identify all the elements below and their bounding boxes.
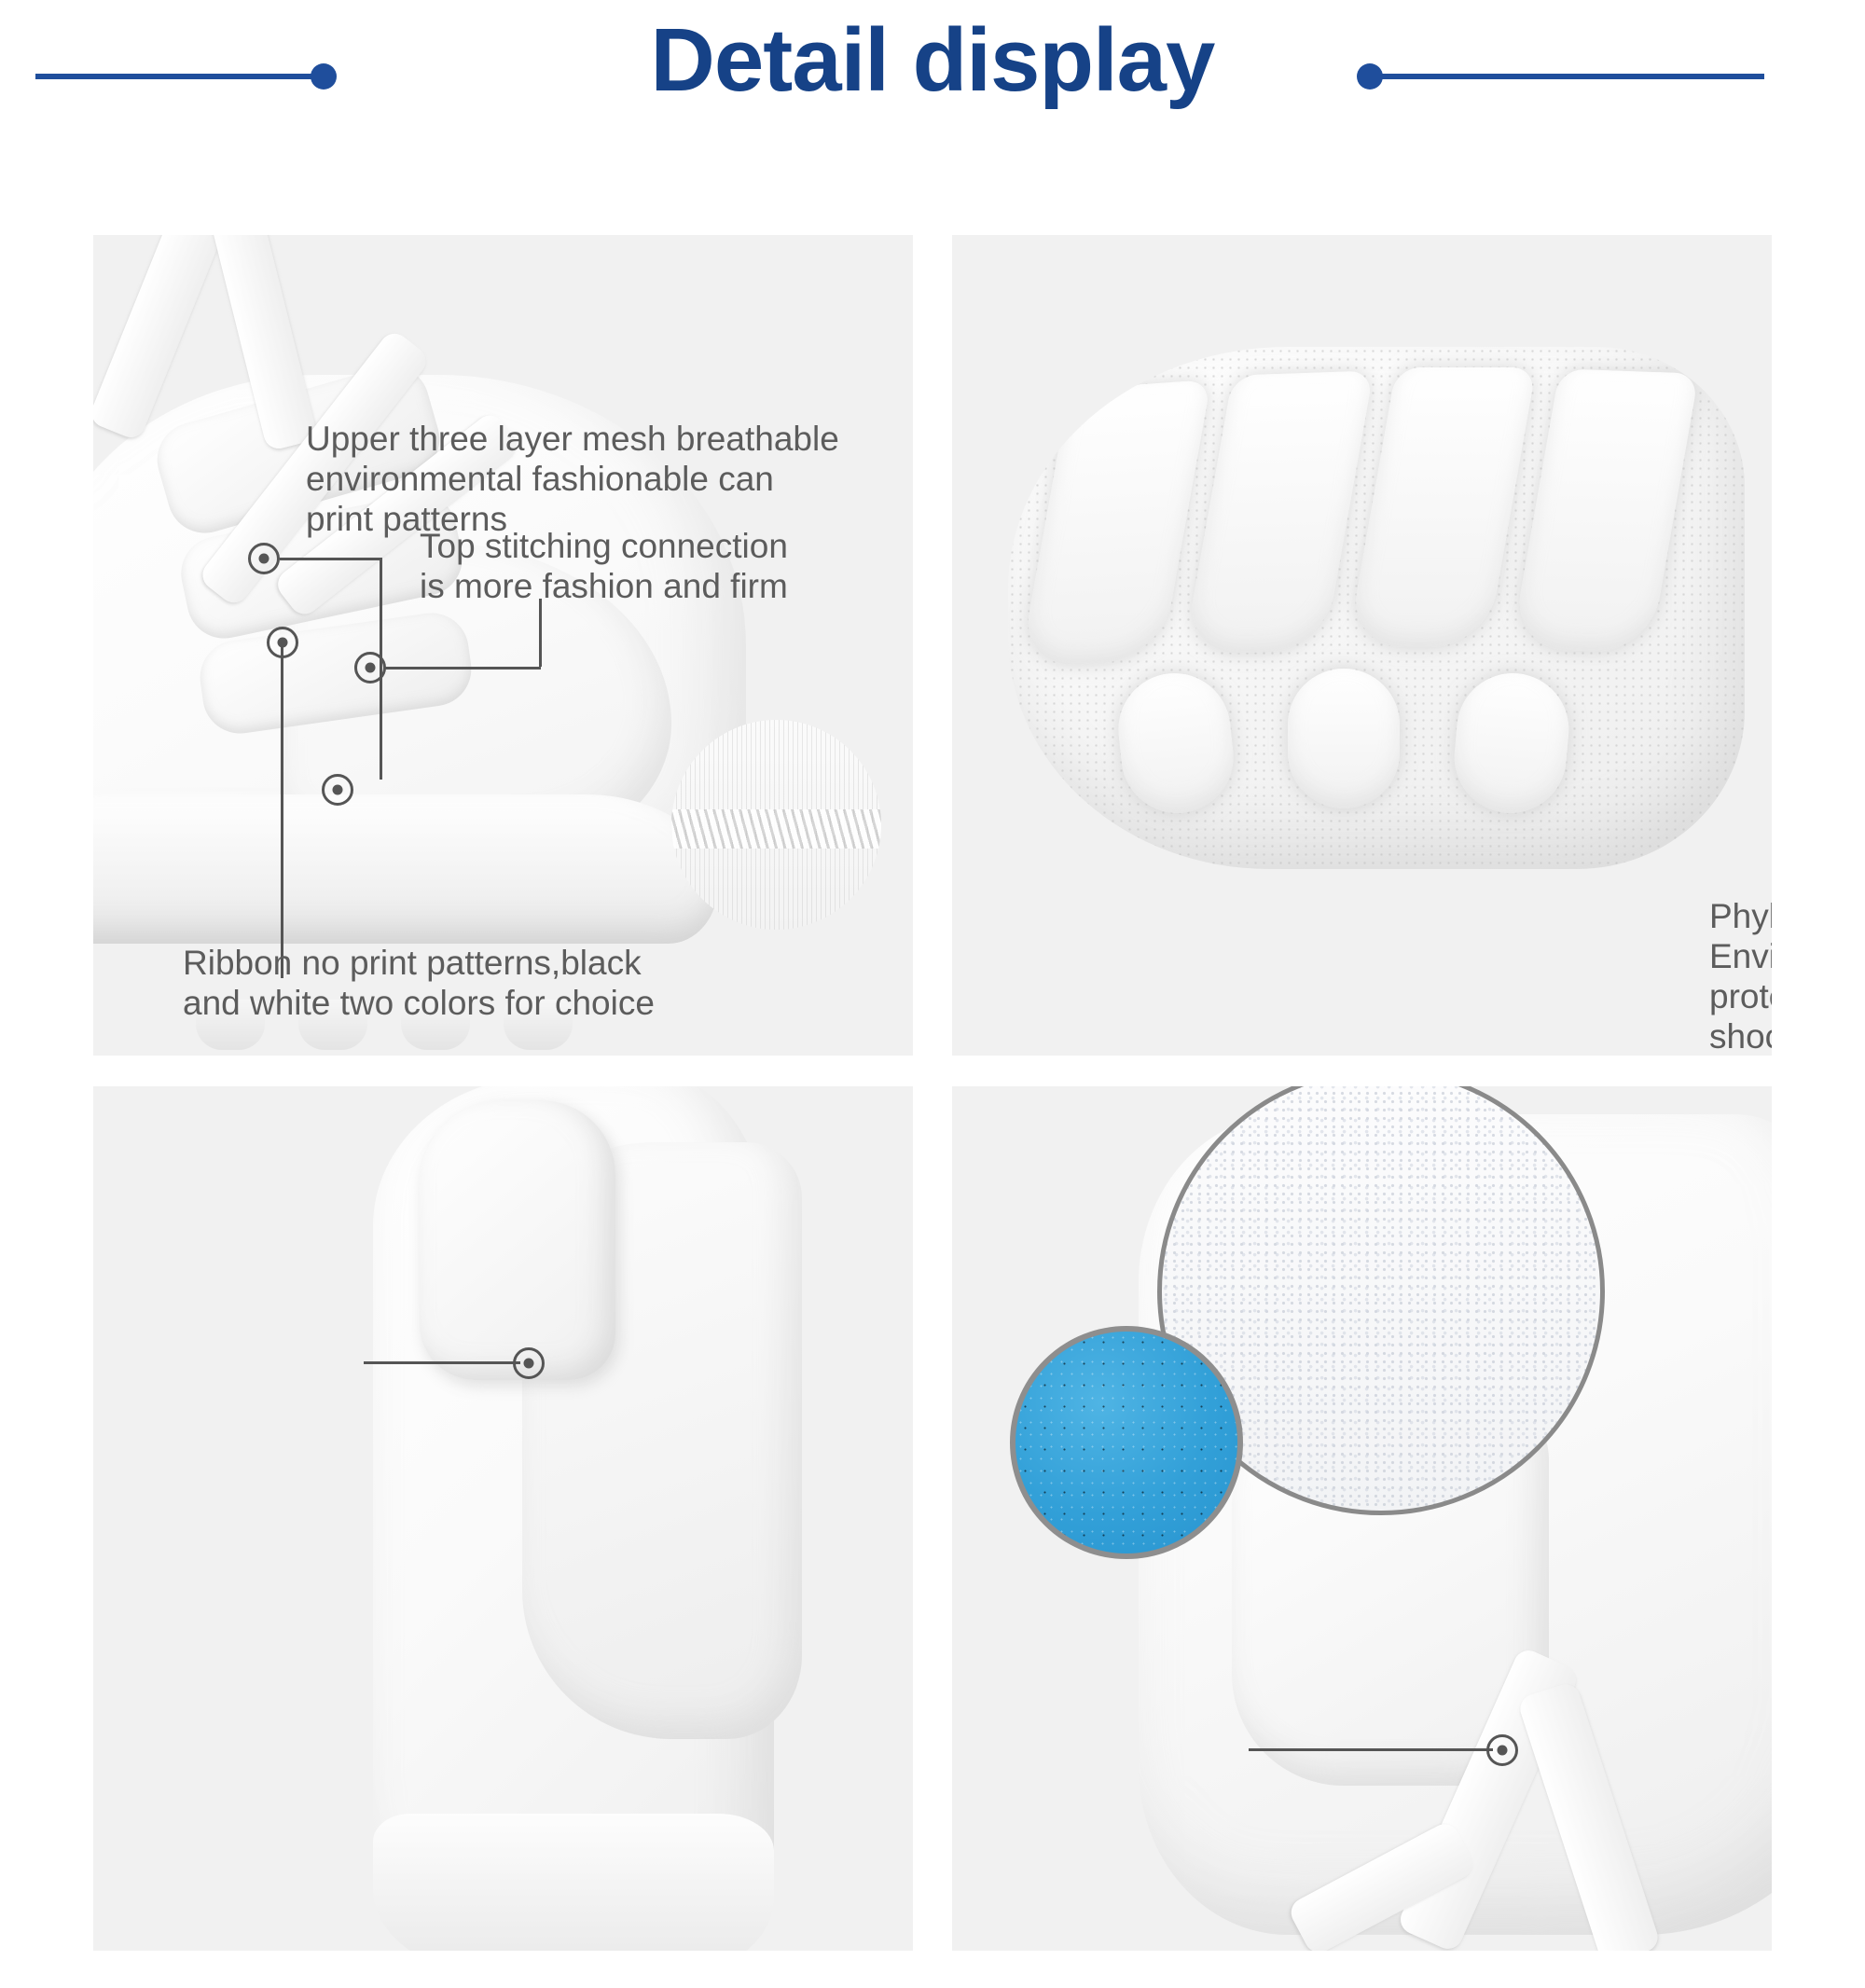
callout-marker-ribbon-heel[interactable] [513,1347,545,1379]
high-poly-insole-panel: the other side High poly insole Breathab… [952,1086,1772,1951]
caption-upper-mesh: Upper three layer mesh breathable enviro… [306,420,839,540]
leader-ribbon-vertical [281,642,283,978]
leader-insole [1249,1748,1493,1751]
outsole-shape [1008,347,1745,869]
caption-phylon-sole: Phylon sole Environmental protection sho… [1709,897,1772,1056]
callout-marker-ribbon[interactable] [267,627,298,658]
caption-ribbon-colors: Ribbon no print patterns,black and white… [183,944,655,1024]
midsole-shape [93,794,718,944]
tread-notch-2 [1288,669,1400,808]
page-header: Detail display [0,0,1865,186]
heel-sole-shape [373,1814,774,1951]
ribbon-heel-photo [93,1086,913,1951]
leader-ribbon-heel [364,1361,520,1364]
callout-marker-mesh[interactable] [248,543,280,574]
callout-marker-insole[interactable] [1486,1734,1518,1766]
stitching-zoom-circle [671,720,881,930]
upper-mesh-photo [93,235,913,1056]
right-decorative-rule [1378,74,1764,79]
high-poly-insole-photo [952,1086,1772,1951]
detail-panel-grid: Upper three layer mesh breathable enviro… [93,235,1772,1951]
stitching-band [671,809,881,849]
insole-foam-zoom-circle [1010,1326,1243,1559]
heel-pull-tab-shape [420,1100,615,1380]
leader-mesh-horizontal [280,558,382,560]
leader-stitching-horizontal [384,667,541,670]
callout-marker-lower-mesh[interactable] [322,774,353,806]
ribbon-heel-panel: Ribbon Fashionable and firm easy to wear… [93,1086,913,1951]
phylon-sole-panel: Phylon sole Environmental protection sho… [952,235,1772,1056]
leader-stitching-vertical [539,599,542,667]
page-title: Detail display [0,9,1865,112]
phylon-sole-photo [952,235,1772,1056]
upper-mesh-detail-panel: Upper three layer mesh breathable enviro… [93,235,913,1056]
callout-marker-stitching[interactable] [354,652,386,683]
caption-top-stitching: Top stitching connection is more fashion… [420,527,788,607]
